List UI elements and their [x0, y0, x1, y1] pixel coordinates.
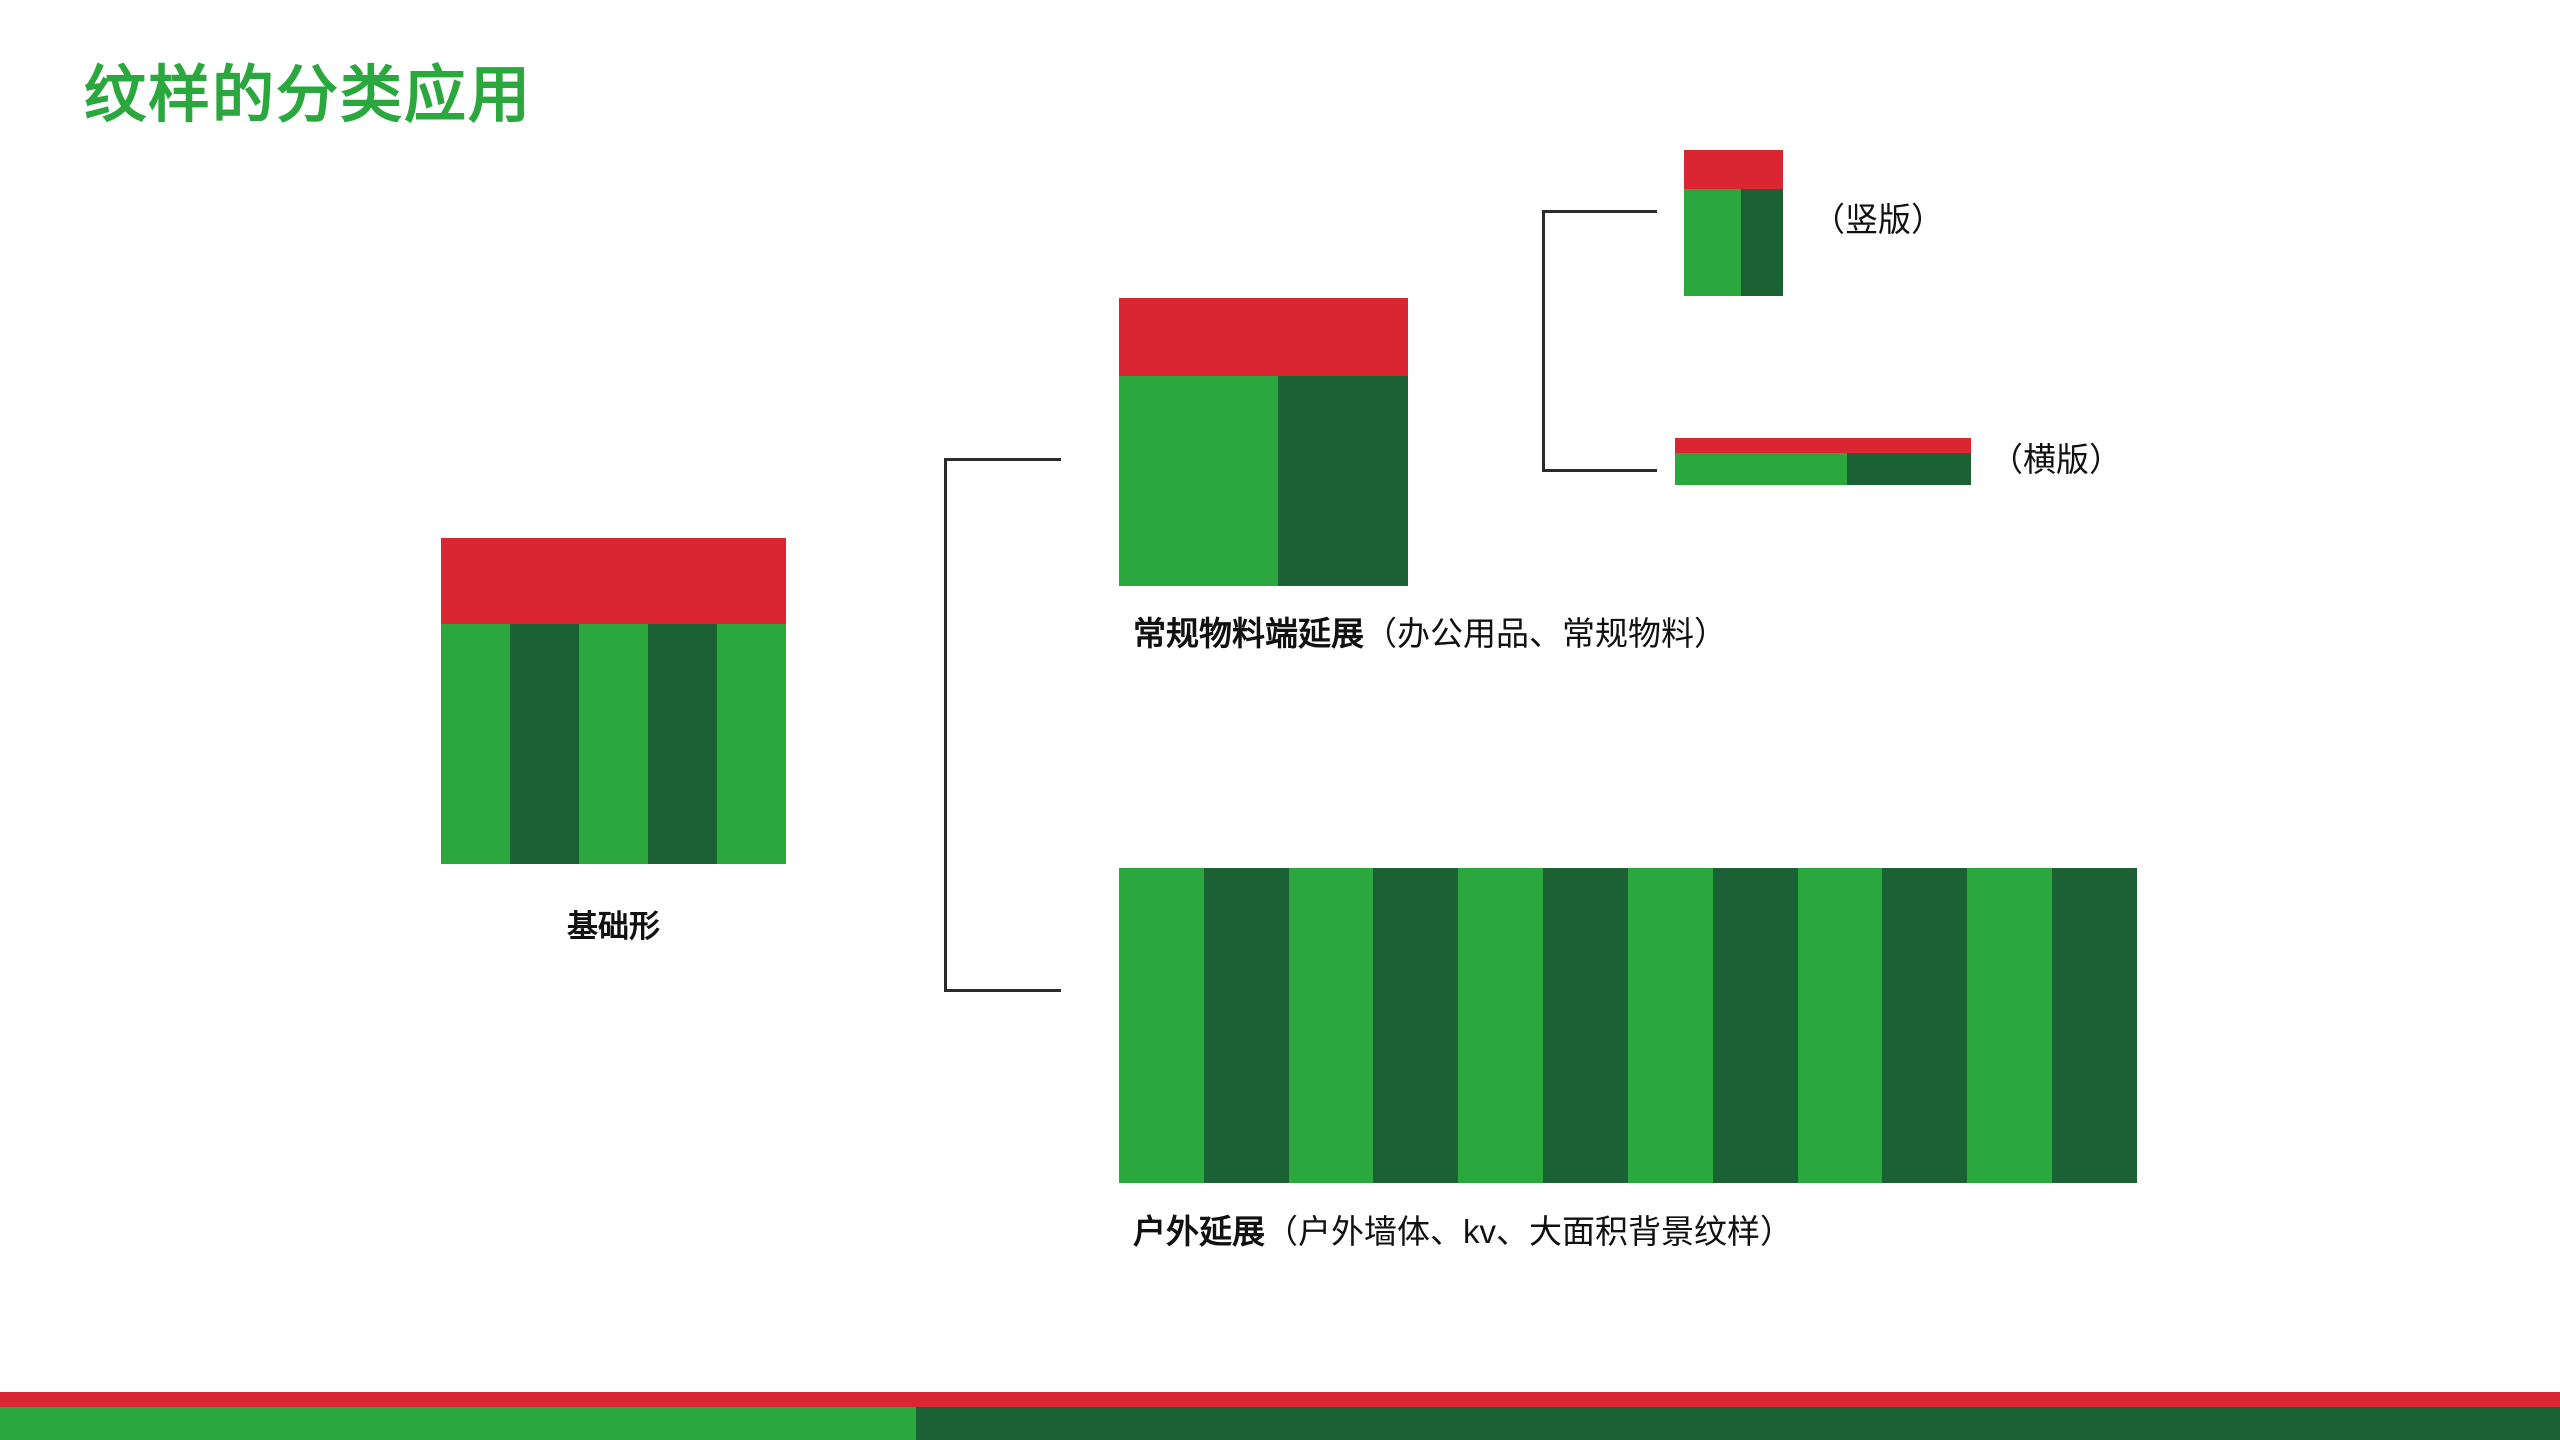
pattern-stripe	[1119, 376, 1203, 586]
pattern-stripe	[1543, 868, 1628, 1183]
pattern-stripe	[579, 624, 648, 864]
red-band-base-shape	[441, 538, 786, 624]
connector-bracket-main	[944, 458, 1061, 992]
pattern-block-base-shape	[441, 538, 786, 864]
caption-outdoor-extension-strong: 户外延展	[1133, 1213, 1265, 1250]
caption-regular-material: 常规物料端延展（办公用品、常规物料）	[1133, 614, 1727, 654]
pattern-stripe	[441, 624, 510, 864]
pattern-stripe	[1458, 868, 1543, 1183]
pattern-stripe	[1882, 868, 1967, 1183]
footer-brand-strip	[0, 1392, 2560, 1440]
pattern-stripe	[1278, 376, 1342, 586]
pattern-stripe	[1798, 868, 1883, 1183]
pattern-stripe	[510, 624, 579, 864]
stripes-base-shape	[441, 624, 786, 864]
pattern-stripe	[1342, 376, 1408, 586]
pattern-stripe	[1741, 189, 1765, 296]
red-band-regular-material	[1119, 298, 1408, 376]
footer-segment	[0, 1407, 609, 1440]
pattern-block-regular-material	[1119, 298, 1408, 586]
pattern-stripe	[1684, 189, 1714, 296]
stripes-vertical-variant	[1684, 189, 1783, 296]
pattern-stripe	[1765, 189, 1783, 296]
pattern-stripe	[1714, 189, 1742, 296]
page-title: 纹样的分类应用	[84, 62, 532, 130]
pattern-stripe	[1373, 868, 1458, 1183]
caption-outdoor-extension-note: （户外墙体、kv、大面积背景纹样）	[1265, 1213, 1793, 1250]
pattern-stripe	[1713, 868, 1798, 1183]
footer-segment	[916, 1407, 1262, 1440]
stripes-outdoor-extension	[1119, 868, 2137, 1183]
pattern-block-horizontal-variant	[1675, 438, 1971, 485]
pattern-stripe	[1204, 868, 1289, 1183]
pattern-stripe	[1918, 453, 1971, 485]
pattern-stripe	[1758, 453, 1847, 485]
pattern-stripe	[1289, 868, 1374, 1183]
pattern-stripe	[1203, 376, 1278, 586]
stripes-regular-material	[1119, 376, 1408, 586]
red-band-vertical-variant	[1684, 150, 1783, 189]
footer-red-band	[0, 1392, 2560, 1407]
footer-segment	[1262, 1407, 2560, 1440]
connector-bracket-variants	[1542, 210, 1657, 472]
caption-regular-material-strong: 常规物料端延展	[1133, 615, 1364, 652]
pattern-block-vertical-variant	[1684, 150, 1783, 296]
pattern-stripe	[1847, 453, 1918, 485]
caption-base-shape: 基础形	[441, 908, 786, 945]
label-horizontal-variant: （横版）	[1990, 440, 2122, 480]
pattern-stripe	[717, 624, 786, 864]
caption-outdoor-extension: 户外延展（户外墙体、kv、大面积背景纹样）	[1133, 1212, 1793, 1252]
red-band-horizontal-variant	[1675, 438, 1971, 453]
pattern-stripe	[648, 624, 717, 864]
label-vertical-variant: （竖版）	[1812, 200, 1944, 240]
footer-green-segments	[0, 1407, 2560, 1440]
pattern-stripe	[1967, 868, 2052, 1183]
caption-regular-material-note: （办公用品、常规物料）	[1364, 615, 1727, 652]
pattern-stripe	[1119, 868, 1204, 1183]
pattern-stripe	[1675, 453, 1758, 485]
pattern-block-outdoor-extension	[1119, 868, 2137, 1183]
pattern-stripe	[2052, 868, 2137, 1183]
footer-segment	[609, 1407, 916, 1440]
stripes-horizontal-variant	[1675, 453, 1971, 485]
pattern-stripe	[1628, 868, 1713, 1183]
